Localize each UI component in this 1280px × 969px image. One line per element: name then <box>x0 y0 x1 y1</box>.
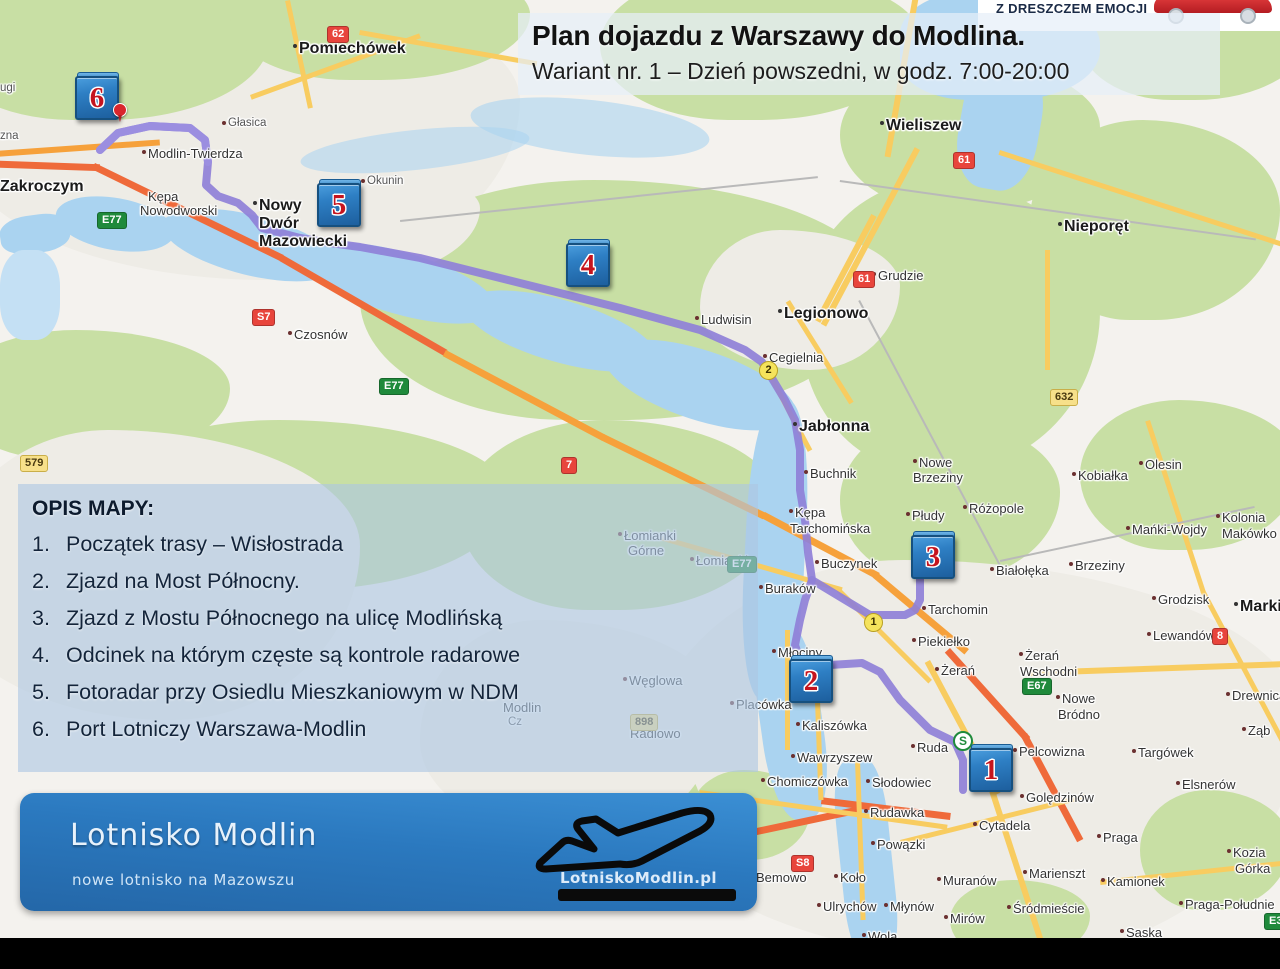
place-dot <box>1019 652 1023 656</box>
place-label: Grudzie <box>878 268 924 283</box>
place-label: Brzeziny <box>913 470 963 485</box>
place-label: Targówek <box>1138 745 1194 760</box>
place-dot <box>864 809 868 813</box>
place-label: Drewnica <box>1232 688 1280 703</box>
place-dot <box>922 606 926 610</box>
place-label: Kolonia <box>1222 510 1265 525</box>
legend-item: 2.Zjazd na Most Północny. <box>32 563 758 600</box>
place-label: Praga <box>1103 830 1138 845</box>
place-dot <box>817 903 821 907</box>
place-dot <box>1072 472 1076 476</box>
place-label: Śródmieście <box>1013 901 1085 916</box>
place-label: Rudawka <box>870 805 924 820</box>
place-label: Brzeziny <box>1075 558 1125 573</box>
place-label: Buczynek <box>821 556 877 571</box>
place-label: Kaliszówka <box>802 718 867 733</box>
place-label: Bródno <box>1058 707 1100 722</box>
place-label: Jabłonna <box>799 418 869 436</box>
logo-underline-bar <box>558 889 736 901</box>
place-dot <box>880 121 884 125</box>
place-dot <box>1007 905 1011 909</box>
place-dot <box>695 316 699 320</box>
place-dot <box>990 567 994 571</box>
place-label: zna <box>0 130 19 142</box>
place-dot <box>789 509 793 513</box>
brand-name: Lotnisko Modlin <box>70 818 317 853</box>
brand-tagline: nowe lotnisko na Mazowszu <box>72 871 295 889</box>
marker-number: 4 <box>566 243 610 287</box>
place-label: Zakroczym <box>0 178 84 196</box>
place-dot <box>1120 929 1124 933</box>
legend-item: 1.Początek trasy – Wisłostrada <box>32 526 758 563</box>
legend-list: 1.Początek trasy – Wisłostrada2.Zjazd na… <box>32 526 758 748</box>
place-label: Ludwisin <box>701 312 752 327</box>
legend-item-text: Zjazd na Most Północny. <box>66 563 300 600</box>
place-label: Piekiełko <box>918 634 970 649</box>
place-dot <box>1126 526 1130 530</box>
route-marker-5[interactable]: 5 <box>317 179 361 227</box>
place-dot <box>1056 695 1060 699</box>
place-label: Górka <box>1235 861 1270 876</box>
place-label: Ząb <box>1248 723 1270 738</box>
place-label: Mańki-Wojdy <box>1132 522 1207 537</box>
road-shield: 61 <box>853 271 875 288</box>
place-label: Tarchomińska <box>790 521 870 536</box>
brand-url: LotniskoModlin.pl <box>560 869 717 887</box>
place-label: Słodowiec <box>872 775 931 790</box>
place-label: Wola <box>868 929 897 938</box>
route-marker-2[interactable]: 2 <box>789 655 833 703</box>
place-dot <box>1147 632 1151 636</box>
airplane-outline-icon <box>532 803 717 875</box>
place-dot <box>944 915 948 919</box>
place-label: Różopole <box>969 501 1024 516</box>
place-label: Buchnik <box>810 466 856 481</box>
place-label: Cytadela <box>979 818 1030 833</box>
place-dot <box>1101 878 1105 882</box>
place-dot <box>1020 794 1024 798</box>
place-dot <box>912 638 916 642</box>
place-label: Koło <box>840 870 866 885</box>
place-label: Marki <box>1240 598 1280 616</box>
place-dot <box>796 722 800 726</box>
place-dot <box>222 121 226 125</box>
legend-item-text: Zjazd z Mostu Północnego na ulicę Modliń… <box>66 600 502 637</box>
place-label: Olesin <box>1145 457 1182 472</box>
road-shield: S8 <box>791 855 814 872</box>
place-label: Kobiałka <box>1078 468 1128 483</box>
place-label: Grodzisk <box>1158 592 1209 607</box>
place-label: Muranów <box>943 873 996 888</box>
place-label: Kępa <box>148 189 178 204</box>
place-dot <box>778 309 782 313</box>
place-label: Wawrzyszew <box>797 750 872 765</box>
road-shield: 61 <box>953 152 975 169</box>
place-dot <box>862 933 866 937</box>
map-poster: PomiechówekGłasicaModlin-TwierdzaZakrocz… <box>0 0 1280 969</box>
place-label: Makówko <box>1222 526 1277 541</box>
place-dot <box>1058 222 1062 226</box>
place-label: Legionowo <box>784 305 868 323</box>
road-shield: 8 <box>1212 628 1228 645</box>
place-dot <box>793 422 797 426</box>
place-label: Okunin <box>367 175 403 187</box>
place-label: Kępa <box>795 505 825 520</box>
place-label: ugi <box>0 82 15 94</box>
road-shield: E77 <box>97 212 127 229</box>
place-dot <box>761 778 765 782</box>
road-shield: E67 <box>1022 678 1052 695</box>
legend-item-text: Odcinek na którym częste są kontrole rad… <box>66 637 520 674</box>
place-label: Chomiczówka <box>767 774 848 789</box>
place-label: Bemowo <box>756 870 807 885</box>
airport-pin-icon <box>113 103 127 121</box>
place-dot <box>1216 514 1220 518</box>
road-shield: 7 <box>561 457 577 474</box>
place-label: Wschodni <box>1020 664 1077 679</box>
place-label: Lewandów <box>1153 628 1215 643</box>
place-dot <box>772 649 776 653</box>
place-dot <box>1226 692 1230 696</box>
place-dot <box>834 874 838 878</box>
page-subtitle: Wariant nr. 1 – Dzień powszedni, w godz.… <box>532 55 1206 88</box>
place-label: Marienszt <box>1029 866 1085 881</box>
place-dot <box>935 667 939 671</box>
place-label: Elsnerów <box>1182 777 1235 792</box>
place-dot <box>1139 461 1143 465</box>
road-shield: 632 <box>1050 389 1078 406</box>
place-label: Nowe <box>1062 691 1095 706</box>
place-dot <box>1023 870 1027 874</box>
place-dot <box>1069 562 1073 566</box>
place-label: Saska <box>1126 925 1162 938</box>
place-dot <box>963 505 967 509</box>
place-label: Ruda <box>917 740 948 755</box>
place-dot <box>906 512 910 516</box>
place-label: Golędzinów <box>1026 790 1094 805</box>
place-dot <box>759 585 763 589</box>
place-label: Nowe <box>919 455 952 470</box>
place-label: Mirów <box>950 911 985 926</box>
place-label: Wieliszew <box>886 117 961 135</box>
legend-item-number: 5. <box>32 674 66 711</box>
place-dot <box>884 903 888 907</box>
road-shield: E3 <box>1264 913 1280 930</box>
place-dot <box>1097 834 1101 838</box>
place-dot <box>142 150 146 154</box>
place-dot <box>791 754 795 758</box>
place-label: Kozia <box>1233 845 1266 860</box>
place-label: Żerań <box>941 663 975 678</box>
road-shield: S7 <box>252 309 275 326</box>
place-label: Nowodworski <box>140 203 217 218</box>
place-dot <box>763 354 767 358</box>
place-label: Praga-Południe <box>1185 897 1275 912</box>
place-label: Pomiechówek <box>299 40 406 58</box>
place-dot <box>937 877 941 881</box>
place-dot <box>804 470 808 474</box>
place-label: Młynów <box>890 899 934 914</box>
place-label: Czosnów <box>294 327 347 342</box>
marker-number: 3 <box>911 535 955 579</box>
place-label: Płudy <box>912 508 945 523</box>
road-shield: 579 <box>20 455 48 472</box>
place-dot <box>1132 749 1136 753</box>
road-shield: E77 <box>379 378 409 395</box>
title-panel: Plan dojazdu z Warszawy do Modlina. Wari… <box>518 13 1220 95</box>
place-dot <box>911 744 915 748</box>
place-dot <box>1176 781 1180 785</box>
marker-number: 5 <box>317 183 361 227</box>
place-label: Dwór <box>259 215 299 233</box>
route-marker-3[interactable]: 3 <box>911 531 955 579</box>
place-dot <box>913 459 917 463</box>
place-dot <box>288 331 292 335</box>
place-label: Buraków <box>765 581 816 596</box>
legend-item-number: 6. <box>32 711 66 748</box>
place-label: Ulrychów <box>823 899 876 914</box>
pin-tail <box>118 115 122 122</box>
road-shield: 62 <box>327 26 349 43</box>
legend-item-text: Port Lotniczy Warszawa-Modlin <box>66 711 366 748</box>
legend-item: 4.Odcinek na którym częste są kontrole r… <box>32 637 758 674</box>
place-label: Kamionek <box>1107 874 1165 889</box>
route-marker-1[interactable]: 1 <box>969 744 1013 792</box>
car-wheel-rear <box>1240 8 1256 24</box>
place-dot <box>1227 849 1231 853</box>
legend-title: OPIS MAPY: <box>32 494 758 524</box>
place-dot <box>361 179 365 183</box>
place-label: Pelcowizna <box>1019 744 1085 759</box>
logo-banner[interactable]: Lotnisko Modlin nowe lotnisko na Mazowsz… <box>20 793 757 911</box>
place-label: Nieporęt <box>1064 218 1129 236</box>
place-label: Cegielnia <box>769 350 823 365</box>
place-label: Modlin-Twierdza <box>148 146 243 161</box>
place-label: Nowy <box>259 197 302 215</box>
marker-number: 1 <box>969 748 1013 792</box>
place-label: Białołęka <box>996 563 1049 578</box>
map-legend-panel: OPIS MAPY: 1.Początek trasy – Wisłostrad… <box>18 484 758 772</box>
place-dot <box>1152 596 1156 600</box>
place-dot <box>866 779 870 783</box>
place-dot <box>293 44 297 48</box>
place-label: Tarchomin <box>928 602 988 617</box>
page-title: Plan dojazdu z Warszawy do Modlina. <box>532 17 1206 55</box>
place-label: Głasica <box>228 117 266 129</box>
legend-item: 6.Port Lotniczy Warszawa-Modlin <box>32 711 758 748</box>
road-shield: 2 <box>759 361 778 380</box>
route-marker-4[interactable]: 4 <box>566 239 610 287</box>
place-dot <box>1242 727 1246 731</box>
legend-item-text: Fotoradar przy Osiedlu Mieszkaniowym w N… <box>66 674 519 711</box>
legend-item-number: 2. <box>32 563 66 600</box>
place-dot <box>1179 901 1183 905</box>
place-dot <box>1234 602 1238 606</box>
place-dot <box>871 841 875 845</box>
legend-item-number: 1. <box>32 526 66 563</box>
marker-number: 2 <box>789 659 833 703</box>
place-label: Mazowiecki <box>259 233 347 251</box>
legend-item-number: 3. <box>32 600 66 637</box>
place-label: Powązki <box>877 837 925 852</box>
place-dot <box>253 201 257 205</box>
place-dot <box>815 560 819 564</box>
legend-item-text: Początek trasy – Wisłostrada <box>66 526 343 563</box>
place-dot <box>973 822 977 826</box>
legend-item-number: 4. <box>32 637 66 674</box>
legend-item: 5.Fotoradar przy Osiedlu Mieszkaniowym w… <box>32 674 758 711</box>
legend-item: 3.Zjazd z Mostu Północnego na ulicę Modl… <box>32 600 758 637</box>
road-shield: 1 <box>864 613 883 632</box>
place-label: Żerań <box>1025 648 1059 663</box>
place-dot <box>1013 748 1017 752</box>
